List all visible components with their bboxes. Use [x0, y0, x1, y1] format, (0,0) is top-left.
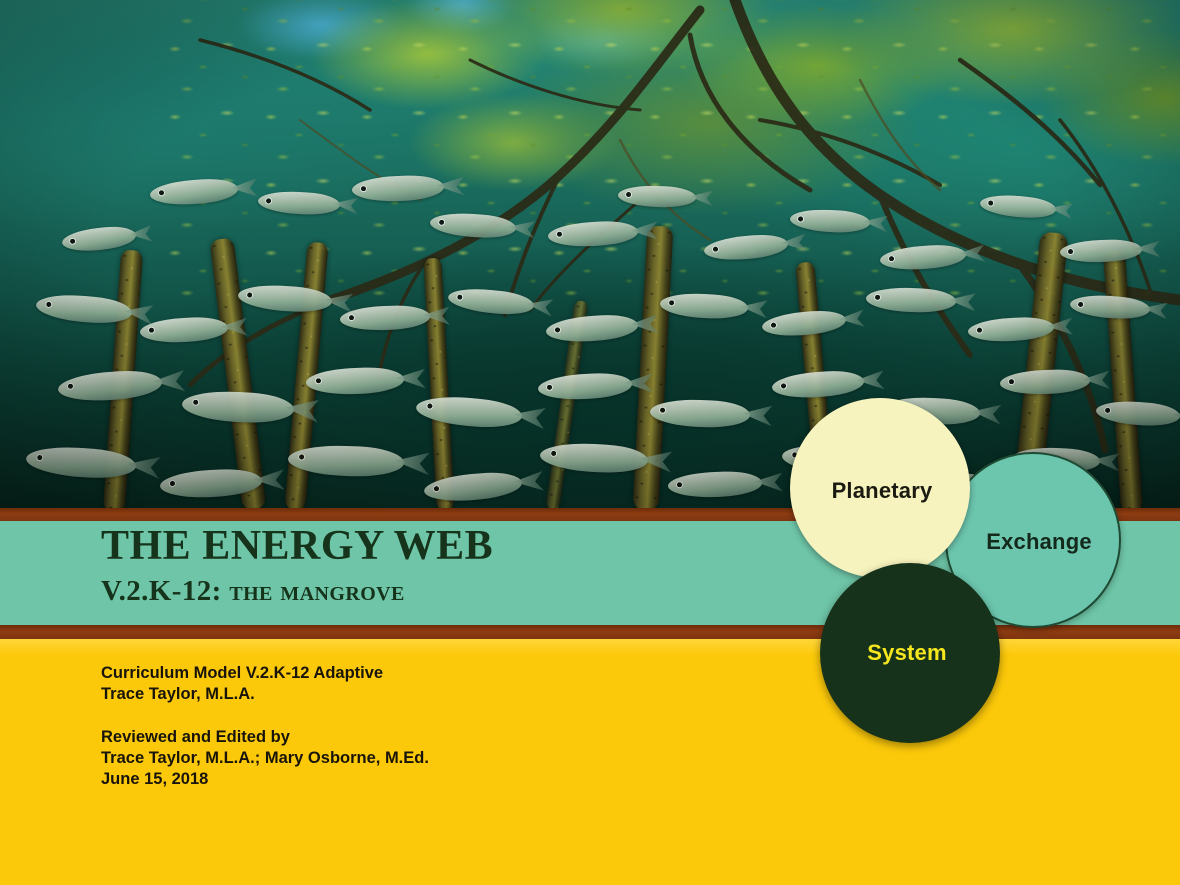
subtitle-version: V.2.K-12: [101, 575, 222, 607]
credits-line-date: June 15, 2018 [101, 769, 429, 790]
mangrove-branches [0, 0, 1180, 510]
credits-panel-sheen [0, 639, 1180, 655]
subtitle-name: The Mangrove [229, 575, 404, 607]
credits-block: Curriculum Model V.2.K-12 Adaptive Trace… [101, 663, 429, 790]
credits-line-reviewers: Trace Taylor, M.L.A.; Mary Osborne, M.Ed… [101, 748, 429, 769]
page-subtitle: V.2.K-12: The Mangrove [101, 574, 801, 608]
venn-circle-planetary[interactable]: Planetary [790, 398, 970, 578]
credits-line-author: Trace Taylor, M.L.A. [101, 684, 429, 705]
page-title: THE ENERGY WEB [101, 522, 801, 570]
title-block: THE ENERGY WEB V.2.K-12: The Mangrove [101, 522, 801, 608]
venn-label-system: System [867, 640, 946, 666]
title-slide: THE ENERGY WEB V.2.K-12: The Mangrove Cu… [0, 0, 1180, 885]
venn-label-planetary: Planetary [832, 478, 933, 504]
credits-line-reviewed-heading: Reviewed and Edited by [101, 727, 429, 748]
title-banner-bottom-rule [0, 625, 1180, 639]
venn-label-exchange: Exchange [986, 529, 1092, 555]
venn-circle-system[interactable]: System [820, 563, 1000, 743]
mangrove-underwater-photo [0, 0, 1180, 510]
credits-line-curriculum-model: Curriculum Model V.2.K-12 Adaptive [101, 663, 429, 684]
credits-spacer [101, 705, 429, 727]
